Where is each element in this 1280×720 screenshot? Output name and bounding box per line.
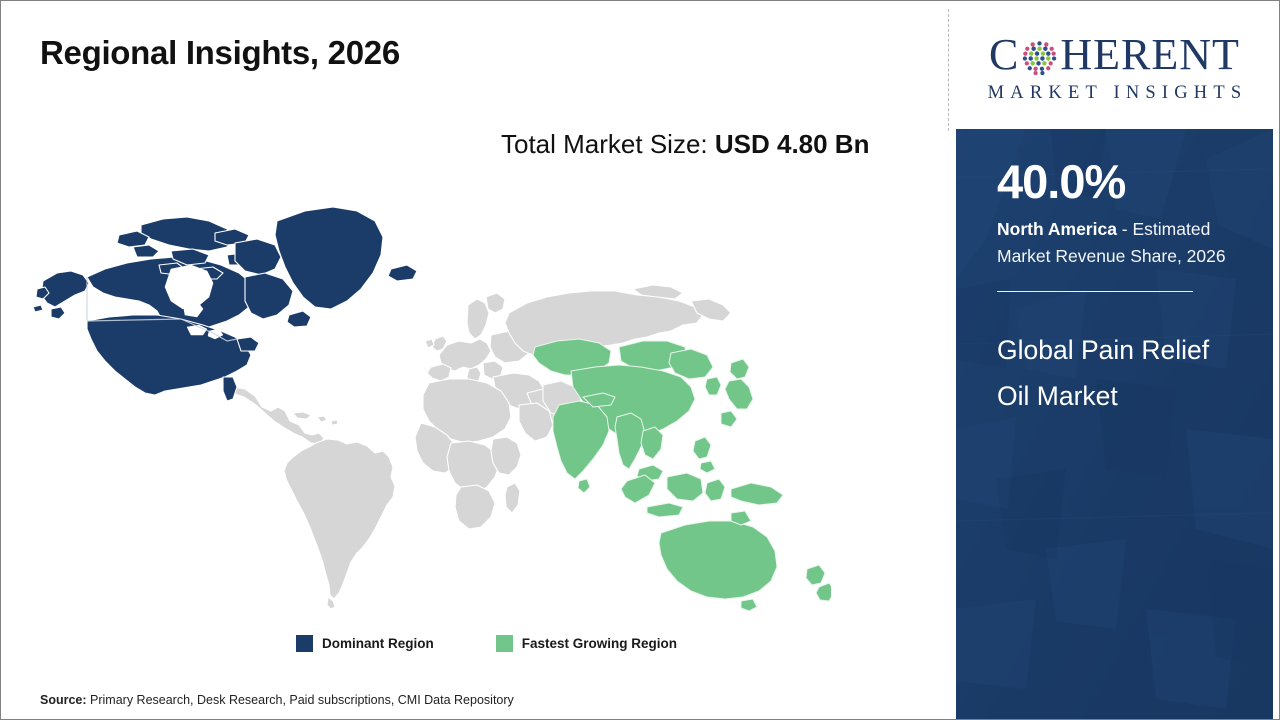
main-content-area: Regional Insights, 2026 Total Market Siz… xyxy=(1,1,949,719)
logo-letters-herent: HERENT xyxy=(1060,33,1240,77)
legend-label-fastest-growing: Fastest Growing Region xyxy=(522,636,677,651)
panel-content: 40.0% North America - Estimated Market R… xyxy=(956,129,1273,419)
source-text: Primary Research, Desk Research, Paid su… xyxy=(87,693,514,707)
market-name: Global Pain Relief Oil Market xyxy=(997,328,1222,419)
map-dominant-regions xyxy=(33,207,417,401)
legend-swatch-fastest-growing xyxy=(496,635,513,652)
globe-dots-icon xyxy=(1020,38,1059,77)
panel-divider-dashed xyxy=(948,9,949,131)
infographic-root: Regional Insights, 2026 Total Market Siz… xyxy=(0,0,1280,720)
legend-item-dominant: Dominant Region xyxy=(296,635,434,652)
world-map xyxy=(31,181,831,611)
legend-label-dominant: Dominant Region xyxy=(322,636,434,651)
logo-letter-c: C xyxy=(989,33,1019,77)
share-value: 40.0% xyxy=(997,157,1247,206)
panel-horizontal-rule xyxy=(997,291,1193,293)
legend-item-fastest-growing: Fastest Growing Region xyxy=(496,635,677,652)
map-fastest-growing-regions xyxy=(533,339,831,611)
logo-wordmark: C xyxy=(989,33,1240,77)
share-description: North America - Estimated Market Revenue… xyxy=(997,216,1242,270)
market-size-prefix: Total Market Size: xyxy=(501,129,715,159)
total-market-size: Total Market Size: USD 4.80 Bn xyxy=(501,126,893,164)
highlight-panel: 40.0% North America - Estimated Market R… xyxy=(956,129,1273,719)
company-logo: C xyxy=(956,9,1273,127)
share-region-name: North America xyxy=(997,219,1117,239)
legend-swatch-dominant xyxy=(296,635,313,652)
source-note: Source: Primary Research, Desk Research,… xyxy=(40,693,514,707)
logo-subtitle: MARKET INSIGHTS xyxy=(982,83,1248,104)
map-legend: Dominant Region Fastest Growing Region xyxy=(296,635,677,652)
market-size-value: USD 4.80 Bn xyxy=(715,129,870,159)
page-title: Regional Insights, 2026 xyxy=(40,34,400,72)
world-map-svg xyxy=(31,181,831,611)
source-label: Source: xyxy=(40,693,87,707)
